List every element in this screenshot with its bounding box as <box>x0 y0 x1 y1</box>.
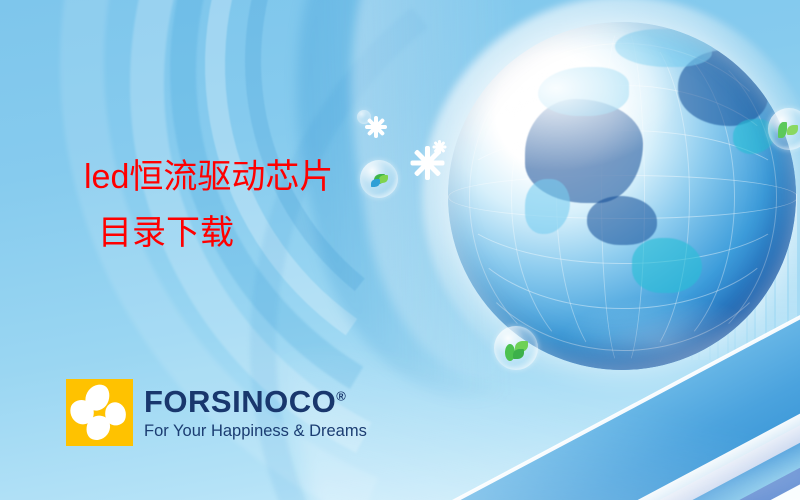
page-title: led恒流驱动芯片 目录下载 <box>84 160 333 250</box>
logo-text-block: FORSINOCO® For Your Happiness & Dreams <box>144 386 367 440</box>
title-line-1: led恒流驱动芯片 <box>84 160 333 194</box>
logo-tagline: For Your Happiness & Dreams <box>144 423 367 440</box>
brand-logo[interactable]: FORSINOCO® For Your Happiness & Dreams <box>66 379 367 446</box>
bubble-plain-small <box>357 110 371 124</box>
logo-brand-name: FORSINOCO® <box>144 386 367 417</box>
earth-globe <box>448 22 796 370</box>
bubble-globe-small <box>360 160 398 198</box>
banner-canvas: led恒流驱动芯片 目录下载 FORSINOCO® For Your Happi… <box>0 0 800 500</box>
globe-rim-shading <box>448 22 796 370</box>
bubble-sprout <box>494 326 538 370</box>
sparkle-flower-tiny <box>432 140 446 154</box>
globe-sphere <box>448 22 796 370</box>
registered-trademark-icon: ® <box>336 388 346 403</box>
logo-brand-word: FORSINOCO <box>144 384 336 419</box>
forsinoco-pinwheel-icon <box>66 379 133 446</box>
title-line-2: 目录下载 <box>84 216 333 250</box>
